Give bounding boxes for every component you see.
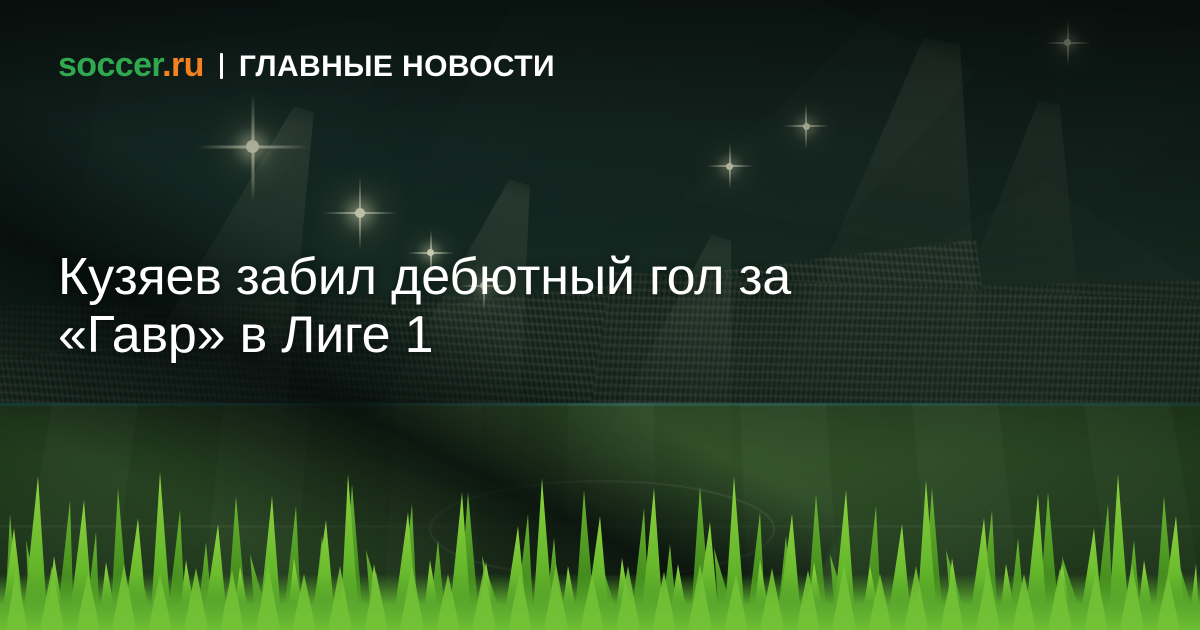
football-pitch <box>0 403 1200 630</box>
floodlight-lamp <box>726 163 733 170</box>
logo-domain-text: .ru <box>162 46 204 84</box>
soccer-ru-logo[interactable]: soccer.ru <box>58 48 204 82</box>
brand-header: soccer.ru ГЛАВНЫЕ НОВОСТИ <box>58 48 555 82</box>
pitch-centre-circle <box>427 480 778 578</box>
header-kicker: ГЛАВНЫЕ НОВОСТИ <box>239 52 555 82</box>
news-share-card: soccer.ru ГЛАВНЫЕ НОВОСТИ Кузяев забил д… <box>0 0 1200 630</box>
page-title: Кузяев забил дебютный гол за «Гавр» в Ли… <box>58 248 958 364</box>
logo-name-text: soccer <box>58 46 162 84</box>
floodlight-lamp <box>803 123 810 130</box>
header-separator-icon <box>220 53 223 79</box>
